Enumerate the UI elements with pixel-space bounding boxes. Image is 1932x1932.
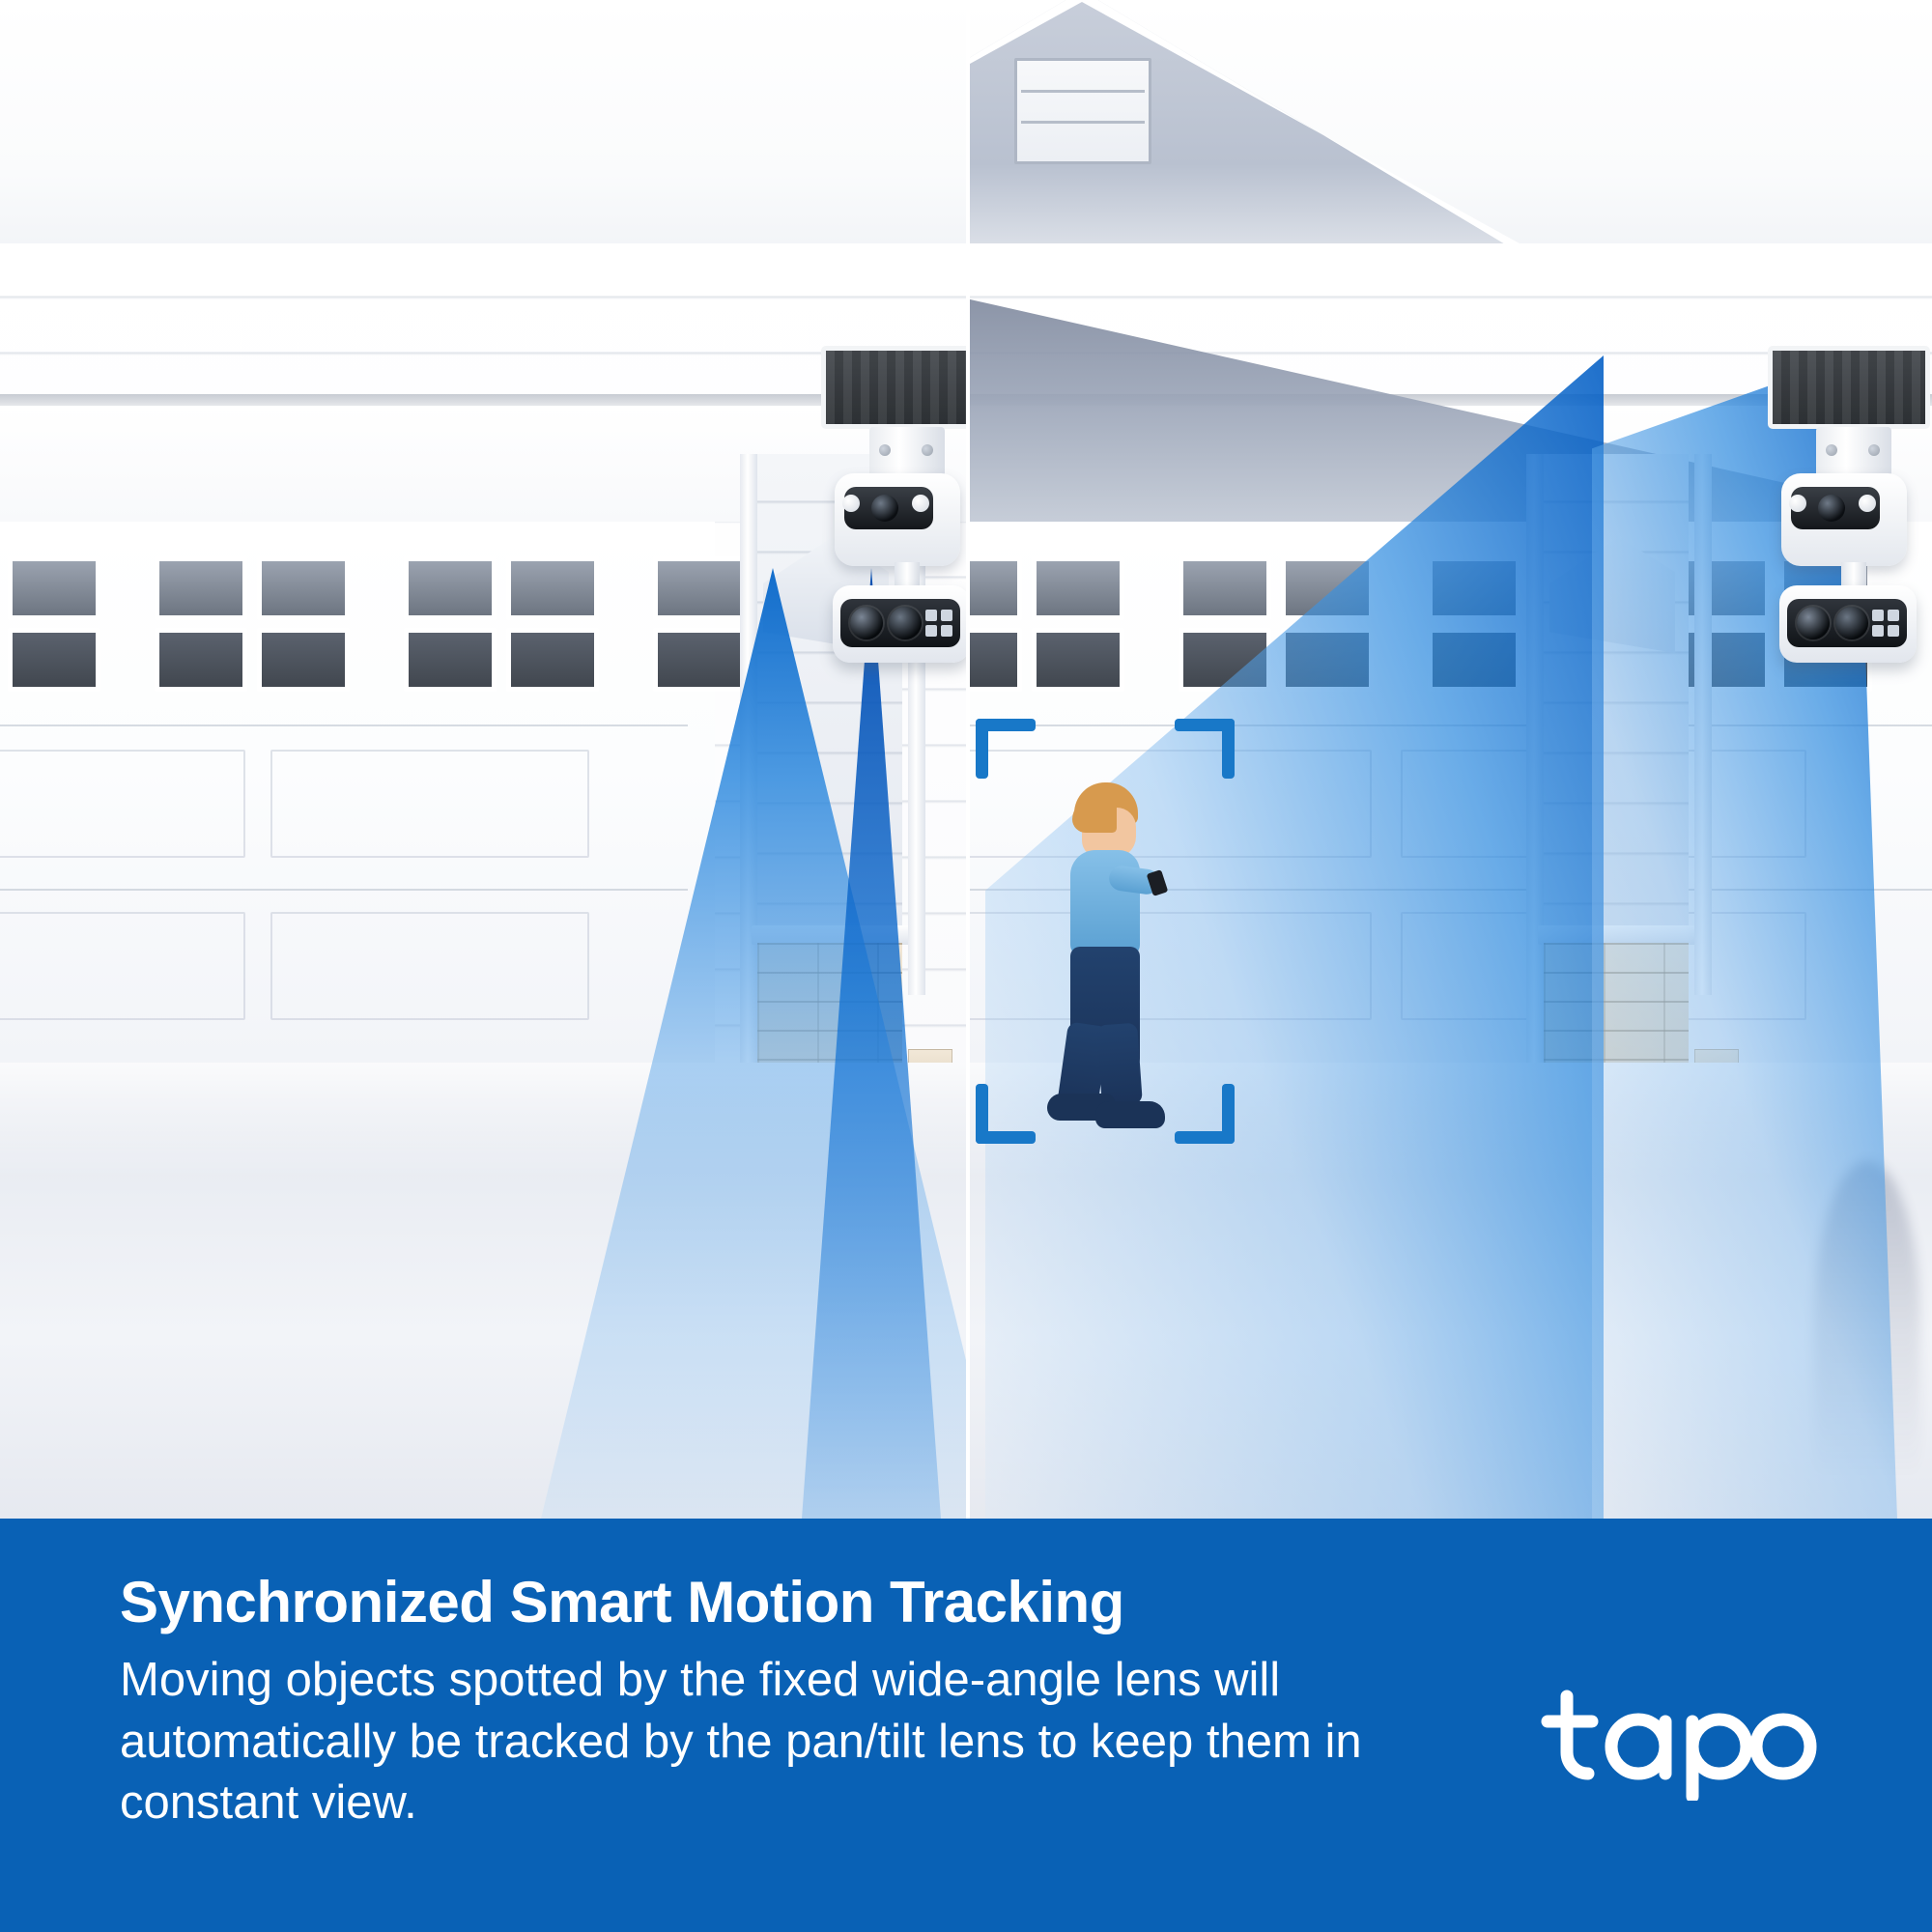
garage-window-group — [404, 556, 599, 692]
floor-sheen-left — [0, 1063, 968, 1179]
panel-wide-angle-lens-view — [968, 0, 1932, 1519]
tapo-logo: tapo — [1530, 1685, 1820, 1801]
garage-window-group — [0, 556, 100, 692]
tracking-brackets — [976, 719, 1235, 1144]
garage-window-group — [1179, 556, 1374, 692]
bracket-top-left — [976, 719, 1036, 779]
bracket-bottom-right — [1175, 1084, 1235, 1144]
garage-window-group — [968, 556, 1124, 692]
pan-tilt-lens-camera — [1781, 473, 1907, 566]
caption-banner: Synchronized Smart Motion Tracking Movin… — [0, 1519, 1932, 1932]
garage-window-group — [155, 556, 350, 692]
garage-window-row-left — [0, 556, 715, 692]
garage-door-left — [0, 522, 715, 1063]
entry-recess-right — [1544, 454, 1689, 937]
stone-sill-right — [1538, 925, 1698, 945]
camera-rig-left — [819, 346, 968, 665]
product-feature-poster: Synchronized Smart Motion Tracking Movin… — [0, 0, 1932, 1932]
door-trim-right — [1526, 454, 1544, 1130]
fixed-wide-angle-camera — [833, 585, 968, 663]
floor-reflection — [1814, 1161, 1920, 1480]
fixed-wide-angle-camera — [1779, 585, 1917, 663]
garage-scene-left — [0, 0, 968, 1519]
garage-scene-right — [968, 0, 1932, 1519]
bracket-bottom-left — [976, 1084, 1036, 1144]
camera-rig-right — [1766, 346, 1932, 665]
panel-divider — [966, 0, 970, 1519]
body-text: Moving objects spotted by the fixed wide… — [120, 1650, 1395, 1834]
panel-pan-tilt-lens-view — [0, 0, 968, 1519]
headline: Synchronized Smart Motion Tracking — [120, 1569, 1124, 1635]
bracket-top-right — [1175, 719, 1235, 779]
solar-panel-icon — [821, 346, 968, 429]
stone-sill-left — [752, 925, 912, 945]
gable-vent-icon — [1014, 58, 1151, 164]
scene-comparison — [0, 0, 1932, 1519]
door-trim-left — [740, 454, 757, 1130]
door-trim-outer-right — [1694, 454, 1712, 995]
pan-tilt-lens-camera — [835, 473, 960, 566]
solar-panel-icon — [1768, 346, 1930, 429]
